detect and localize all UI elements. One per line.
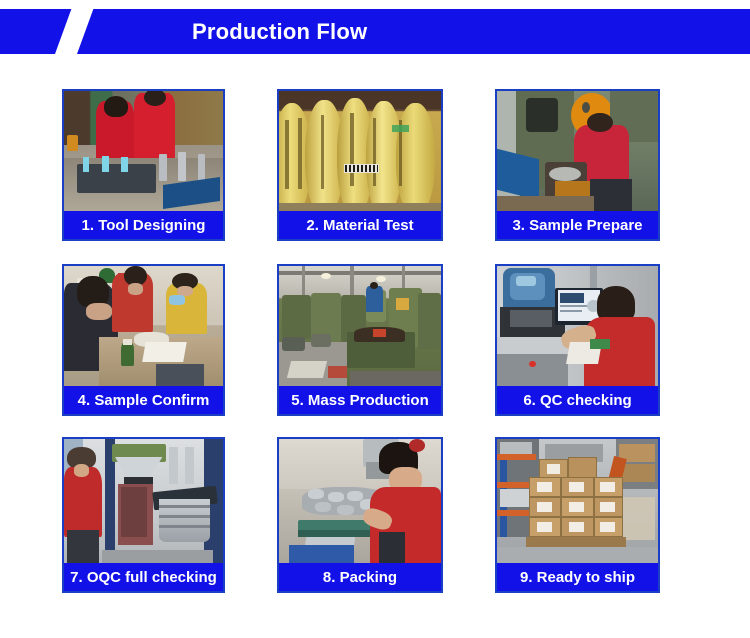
step-card-2[interactable]: 2. Material Test <box>277 89 443 241</box>
step-photo-4 <box>64 266 223 388</box>
step-photo-5 <box>279 266 441 388</box>
step-photo-7 <box>64 439 223 565</box>
step-photo-2 <box>279 91 441 213</box>
step-label-8: 8. Packing <box>279 563 441 591</box>
step-label-4: 4. Sample Confirm <box>64 386 223 414</box>
step-card-6[interactable]: 6. QC checking <box>495 264 660 416</box>
step-label-7: 7. OQC full checking <box>64 563 223 591</box>
step-card-1[interactable]: 1. Tool Designing <box>62 89 225 241</box>
step-label-9: 9. Ready to ship <box>497 563 658 591</box>
step-label-3: 3. Sample Prepare <box>497 211 658 239</box>
step-label-1: 1. Tool Designing <box>64 211 223 239</box>
step-label-6: 6. QC checking <box>497 386 658 414</box>
step-card-3[interactable]: 3. Sample Prepare <box>495 89 660 241</box>
step-label-5: 5. Mass Production <box>279 386 441 414</box>
step-card-9[interactable]: 9. Ready to ship <box>495 437 660 593</box>
step-card-7[interactable]: 7. OQC full checking <box>62 437 225 593</box>
step-photo-9 <box>497 439 658 565</box>
step-photo-6 <box>497 266 658 388</box>
step-card-4[interactable]: 4. Sample Confirm <box>62 264 225 416</box>
step-label-2: 2. Material Test <box>279 211 441 239</box>
production-flow-grid: 1. Tool Designing <box>0 0 750 638</box>
step-photo-8 <box>279 439 441 565</box>
step-card-8[interactable]: 8. Packing <box>277 437 443 593</box>
step-card-5[interactable]: 5. Mass Production <box>277 264 443 416</box>
step-photo-1 <box>64 91 223 213</box>
step-photo-3 <box>497 91 658 213</box>
